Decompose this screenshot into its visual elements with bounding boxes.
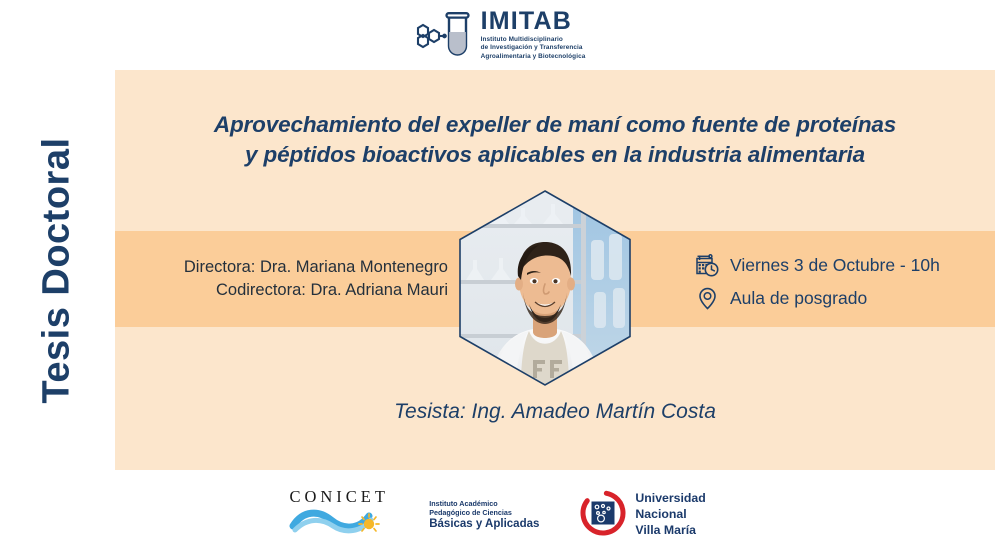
iapcba-logo: Instituto Académico Pedagógico de Cienci… bbox=[429, 499, 539, 531]
iapcba-line-3: Básicas y Aplicadas bbox=[429, 518, 539, 531]
event-place-text: Aula de posgrado bbox=[730, 288, 867, 309]
codirector-line: Codirectora: Dra. Adriana Mauri bbox=[216, 281, 448, 299]
imitab-subtitle-line-3: Agroalimentaria y Biotecnológica bbox=[481, 53, 586, 60]
event-details: Viernes 3 de Octubre - 10h Aula de posgr… bbox=[695, 253, 940, 311]
page-title-line-2: y péptidos bioactivos aplicables en la i… bbox=[245, 142, 865, 167]
unvm-line-3: Villa María bbox=[635, 523, 696, 537]
imitab-subtitle-line-1: Instituto Multidisciplinario bbox=[481, 36, 563, 43]
location-pin-icon bbox=[695, 286, 720, 311]
tesista-name: Tesista: Ing. Amadeo Martín Costa bbox=[115, 400, 995, 424]
unvm-line-2: Nacional bbox=[635, 507, 686, 521]
unvm-line-1: Universidad bbox=[635, 491, 705, 505]
conicet-logo: CONICET bbox=[289, 489, 389, 542]
imitab-logo-text: IMITAB Instituto Multidisciplinario de I… bbox=[481, 9, 586, 61]
conicet-wordmark: CONICET bbox=[289, 489, 389, 506]
main-panel: Tesis Doctoral Aprovechamiento del expel… bbox=[0, 70, 995, 470]
page-title-line-1: Aprovechamiento del expeller de maní com… bbox=[214, 112, 896, 137]
portrait-photo bbox=[455, 188, 635, 388]
event-place-row: Aula de posgrado bbox=[695, 286, 940, 311]
sidebar-vertical-banner: Tesis Doctoral bbox=[0, 70, 115, 470]
unvm-circle-icon bbox=[579, 489, 627, 542]
iapcba-line-2: Pedagógico de Ciencias bbox=[429, 508, 539, 517]
test-tube-molecule-icon bbox=[410, 10, 472, 60]
footer-logo-bar: CONICET bbox=[0, 470, 995, 560]
director-block: Directora: Dra. Mariana Montenegro Codir… bbox=[118, 256, 448, 303]
imitab-logo: IMITAB Instituto Multidisciplinario de I… bbox=[410, 9, 586, 61]
page-title: Aprovechamiento del expeller de maní com… bbox=[115, 110, 995, 169]
imitab-subtitle: Instituto Multidisciplinario de Investig… bbox=[481, 36, 586, 61]
unvm-wordmark: Universidad Nacional Villa María bbox=[635, 491, 705, 538]
imitab-subtitle-line-2: de Investigación y Transferencia bbox=[481, 44, 583, 51]
imitab-name: IMITAB bbox=[481, 9, 586, 34]
event-date-row: Viernes 3 de Octubre - 10h bbox=[695, 253, 940, 278]
iapcba-line-1: Instituto Académico bbox=[429, 499, 539, 508]
event-date-text: Viernes 3 de Octubre - 10h bbox=[730, 255, 940, 276]
sidebar-vertical-label: Tesis Doctoral bbox=[36, 137, 79, 403]
header-logo-bar: IMITAB Instituto Multidisciplinario de I… bbox=[0, 0, 995, 70]
director-line: Directora: Dra. Mariana Montenegro bbox=[184, 258, 448, 276]
conicet-ribbon-sun-icon bbox=[289, 506, 389, 541]
calendar-clock-icon bbox=[695, 253, 720, 278]
unvm-logo: Universidad Nacional Villa María bbox=[579, 489, 705, 542]
